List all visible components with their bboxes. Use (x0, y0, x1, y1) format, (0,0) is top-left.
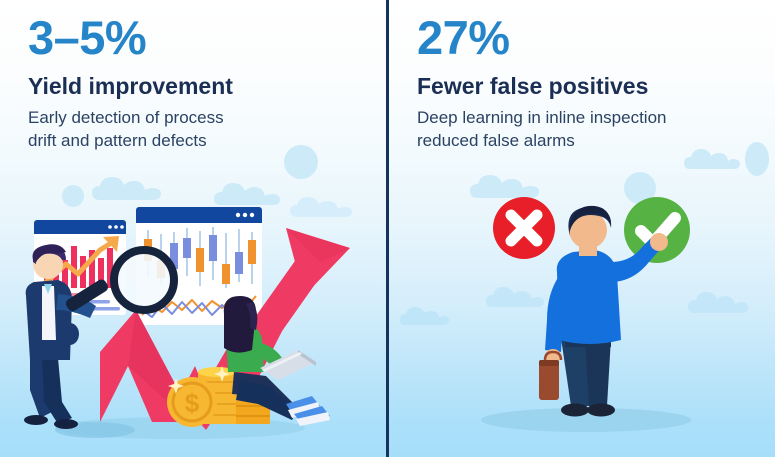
panel-right: 27% Fewer false positives Deep learning … (389, 0, 775, 457)
shoe (54, 419, 78, 429)
panel-left: 3–5% Yield improvement Early detection o… (0, 0, 386, 457)
analytics-growth-illustration: $ (0, 190, 386, 457)
stat-number-left: 3–5% (28, 14, 374, 62)
red-cross-circle (493, 197, 555, 259)
hand (61, 323, 79, 345)
panel-right-text-block: 27% Fewer false positives Deep learning … (417, 14, 763, 152)
infographic-root: 3–5% Yield improvement Early detection o… (0, 0, 775, 457)
shoe (561, 404, 589, 417)
stat-description-right: Deep learning in inline inspection reduc… (417, 107, 763, 152)
panel-left-text-block: 3–5% Yield improvement Early detection o… (28, 14, 374, 152)
stat-title-left: Yield improvement (28, 74, 374, 99)
shoe (24, 415, 48, 425)
stat-number-right: 27% (417, 14, 763, 62)
choice-validation-illustration (389, 190, 775, 457)
shoe (587, 404, 615, 417)
green-check-circle (624, 197, 690, 263)
svg-text:$: $ (185, 388, 200, 418)
hand (650, 233, 668, 251)
stat-description-left: Early detection of process drift and pat… (28, 107, 374, 152)
stat-title-right: Fewer false positives (417, 74, 763, 99)
